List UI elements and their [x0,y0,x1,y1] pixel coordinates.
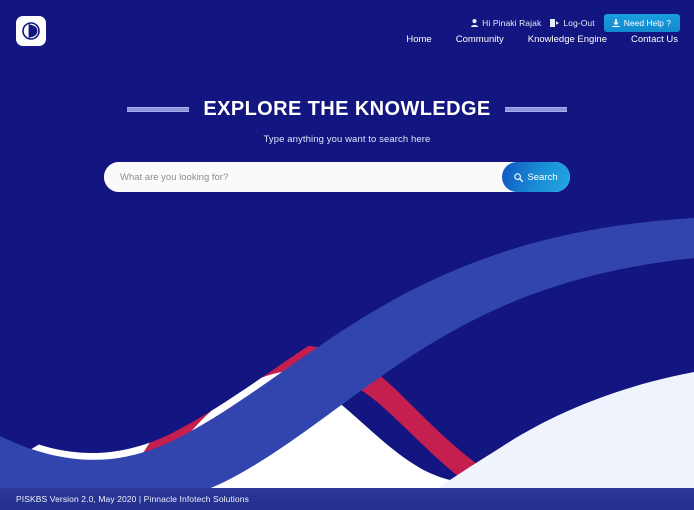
user-icon [471,19,478,27]
search-input[interactable] [104,162,502,192]
nav-item-knowledge-engine[interactable]: Knowledge Engine [528,34,607,45]
main-nav: Home Community Knowledge Engine Contact … [406,34,678,45]
headline-decoration-left [127,107,189,112]
nav-item-home[interactable]: Home [406,34,431,45]
nav-item-community[interactable]: Community [456,34,504,45]
wave-royal-blue-shape [0,218,694,510]
footer-bar: PISKBS Version 2.0, May 2020 | Pinnacle … [0,488,694,510]
wave-white-shape [0,356,694,510]
user-greeting-label: Hi Pinaki Rajak [482,18,541,28]
nav-item-contact-us[interactable]: Contact Us [631,34,678,45]
header-utility-row: Hi Pinaki Rajak Log-Out Need Help ? [471,14,680,32]
logout-label: Log-Out [563,18,594,28]
brand-logo[interactable] [16,16,46,46]
wave-crimson-shape [118,345,694,510]
pinnacle-d-monogram-icon [21,21,41,41]
need-help-label: Need Help ? [624,18,671,28]
search-button-label: Search [527,172,557,183]
search-button[interactable]: Search [502,162,570,192]
page-root: Hi Pinaki Rajak Log-Out Need Help ? Home… [0,0,694,510]
headline-decoration-right [505,107,567,112]
search-icon [514,173,523,182]
headline-row: EXPLORE THE KNOWLEDGE [0,98,694,121]
page-title: EXPLORE THE KNOWLEDGE [203,98,490,121]
background-wave-graphic [0,0,694,510]
wave-navy-overlay-shape [0,0,694,453]
search-bar: Search [104,162,570,192]
footer-version-text: PISKBS Version 2.0, May 2020 | Pinnacle … [0,494,249,504]
logout-link[interactable]: Log-Out [550,18,594,28]
need-help-button[interactable]: Need Help ? [604,14,680,32]
hero-section: EXPLORE THE KNOWLEDGE Type anything you … [0,98,694,145]
download-help-icon [612,19,620,27]
logout-icon [550,19,559,27]
hero-subtitle: Type anything you want to search here [0,134,694,145]
user-greeting: Hi Pinaki Rajak [471,18,541,28]
